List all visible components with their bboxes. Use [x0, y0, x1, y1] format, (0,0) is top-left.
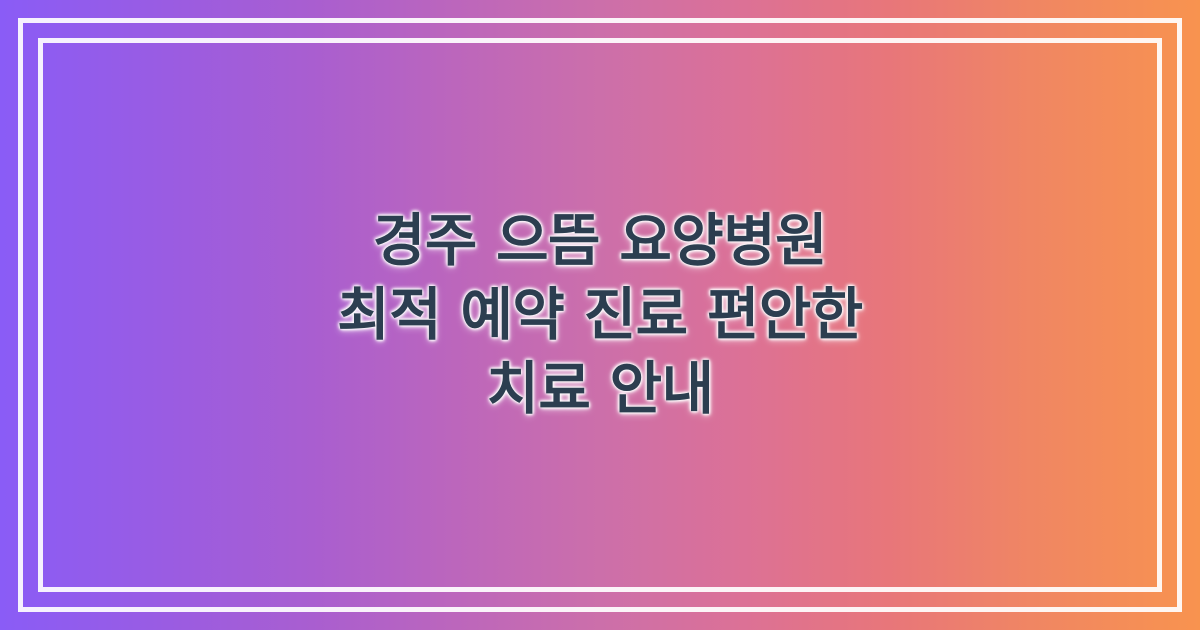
title-line-1: 경주 으뜸 요양병원: [337, 204, 863, 278]
title-line-3: 치료 안내: [337, 352, 863, 426]
banner-title: 경주 으뜸 요양병원 최적 예약 진료 편안한 치료 안내: [247, 204, 953, 426]
banner-content: 경주 으뜸 요양병원 최적 예약 진료 편안한 치료 안내: [0, 0, 1200, 630]
banner-card: 경주 으뜸 요양병원 최적 예약 진료 편안한 치료 안내: [0, 0, 1200, 630]
title-line-2: 최적 예약 진료 편안한: [337, 278, 863, 352]
